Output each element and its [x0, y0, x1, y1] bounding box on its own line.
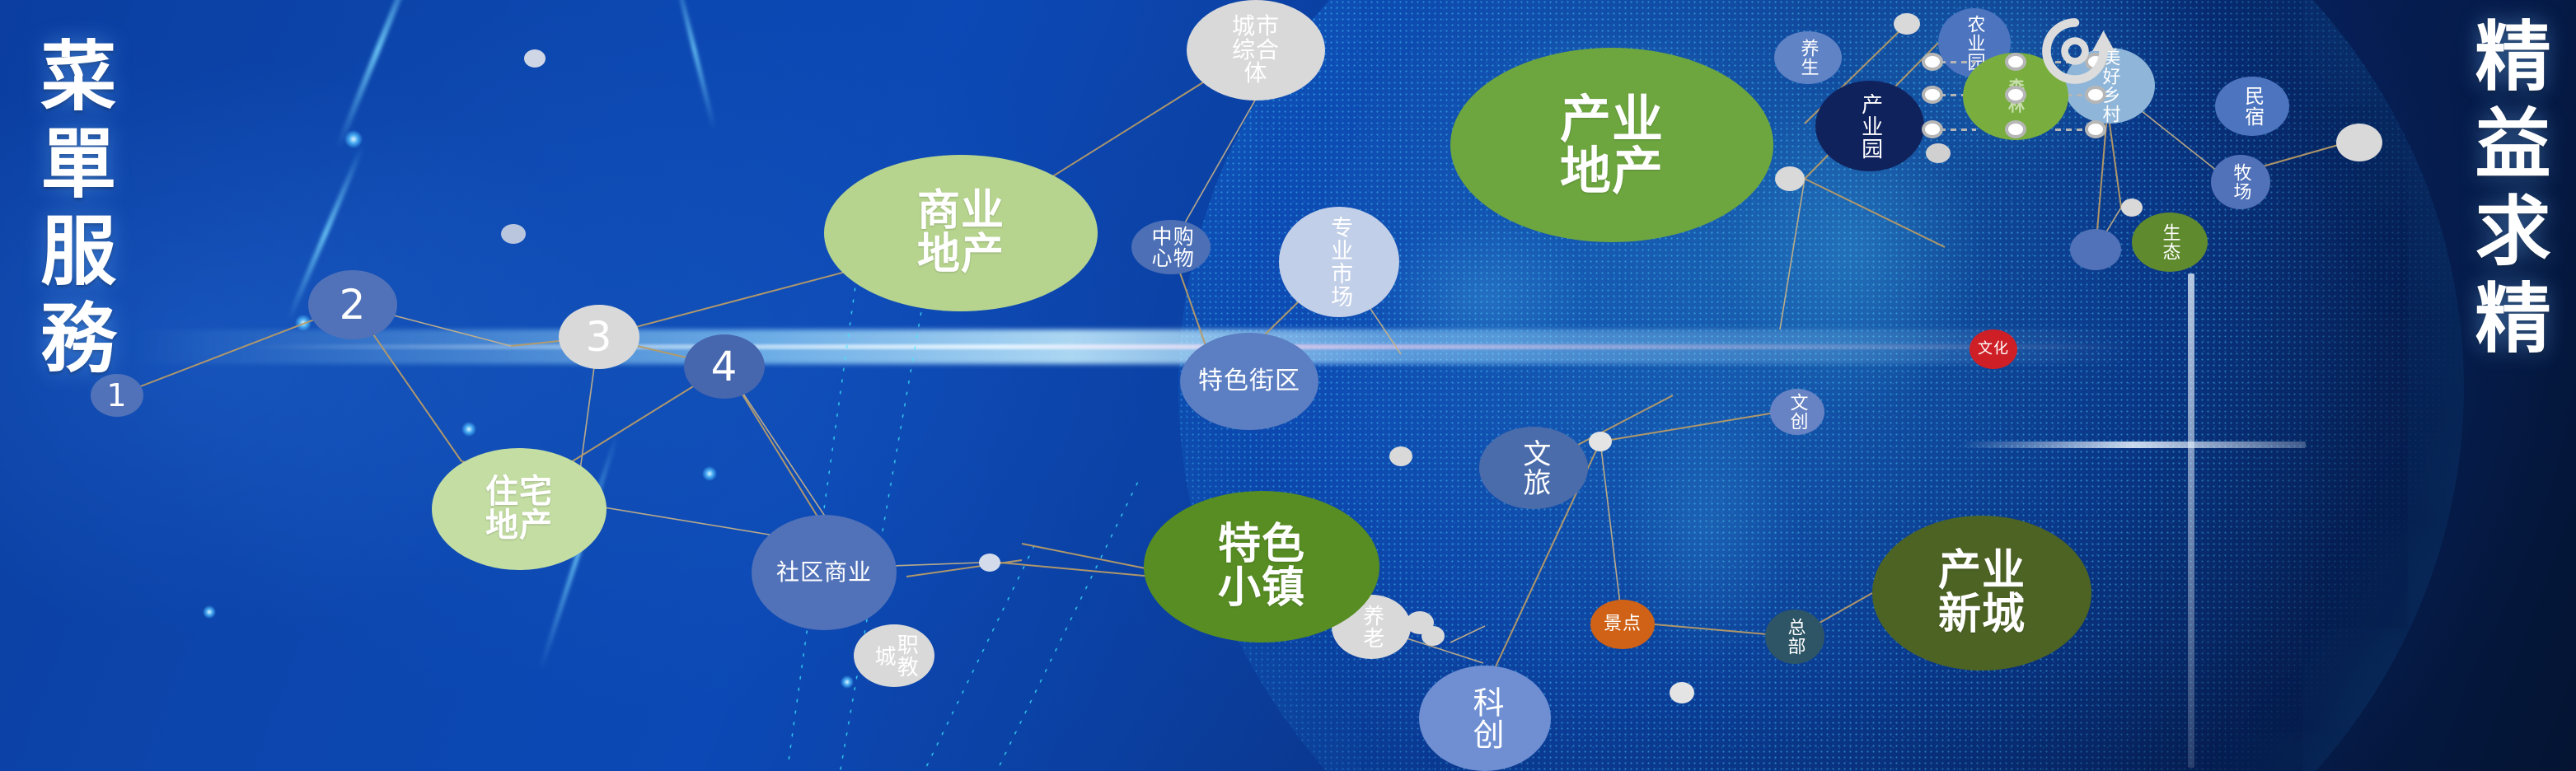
plain-node[interactable]	[1421, 626, 1445, 646]
plain-node[interactable]	[1775, 166, 1805, 191]
forest-node[interactable]	[2005, 86, 2026, 104]
connector-line	[1600, 442, 1623, 624]
bubble-chengshi[interactable]: 城市 综合 体	[1187, 0, 1325, 100]
bubble-kechuang[interactable]: 科创	[1419, 666, 1551, 771]
connector-line	[1805, 179, 1945, 247]
bubble-wenhua[interactable]: 文化	[1969, 329, 2017, 369]
bubble-tesejie[interactable]: 特色街区	[1180, 333, 1318, 430]
bubble-zhuzhai[interactable]: 住宅 地产	[432, 448, 607, 570]
bubble-wenchuang[interactable]: 文创	[1770, 389, 1824, 435]
plain-node[interactable]	[2336, 124, 2382, 161]
bubble-zhijiao[interactable]: 职教城	[854, 624, 934, 687]
plain-node[interactable]	[2121, 199, 2143, 217]
bubble-yangsheng[interactable]: 养生	[1774, 31, 1842, 84]
forest-node[interactable]	[1922, 53, 1943, 71]
bubble-chanye-xc[interactable]: 产业 新城	[1872, 516, 2091, 671]
forest-node[interactable]	[2005, 53, 2026, 71]
forest-node[interactable]	[2005, 120, 2026, 138]
bubble-muchang[interactable]: 牧场	[2211, 155, 2270, 209]
crosshair-horizontal	[1960, 442, 2306, 448]
connector-line	[1780, 179, 1805, 329]
bubble-gouwu[interactable]: 购物中心	[1131, 220, 1211, 274]
connector-line	[906, 560, 1022, 577]
dotted-arc	[991, 477, 1140, 771]
bubble-tese-town[interactable]: 特色 小镇	[1144, 491, 1379, 642]
forest-node[interactable]	[1922, 120, 1943, 138]
horizontal-light-beam	[0, 329, 2143, 364]
bubble-chanyeyuan[interactable]: 产业园	[1815, 81, 1924, 171]
crosshair-vertical	[2188, 273, 2194, 768]
numbered-node-4[interactable]: 4	[684, 334, 765, 399]
bubble-jingdian[interactable]: 景点	[1590, 600, 1655, 649]
glow-dot	[702, 466, 717, 481]
connector-line	[1022, 544, 1145, 568]
numbered-node-3[interactable]: 3	[559, 305, 639, 369]
bubble-shangye[interactable]: 商业 地产	[824, 155, 1098, 311]
plain-node[interactable]	[1894, 13, 1920, 35]
forest-dash	[1940, 61, 1976, 63]
plain-node[interactable]	[1389, 446, 1412, 466]
glow-dot	[295, 315, 311, 331]
glow-dot	[203, 605, 216, 619]
forest-node[interactable]	[2085, 120, 2106, 138]
bubble-zhuanye[interactable]: 专业市场	[1279, 207, 1399, 317]
glow-dot	[344, 130, 363, 148]
forest-widget[interactable]: 森林	[1920, 16, 2110, 165]
plain-node[interactable]	[501, 224, 526, 244]
bubble-minsu[interactable]: 民宿	[2215, 77, 2289, 136]
horizontal-light-beam-core	[247, 344, 2143, 349]
connector-line	[1600, 412, 1780, 442]
calligraphy-right: 精益求精	[2457, 16, 2555, 366]
plain-node[interactable]	[2070, 229, 2121, 270]
plain-node[interactable]	[1670, 682, 1694, 703]
plain-node[interactable]	[524, 49, 546, 68]
bubble-wenlv[interactable]: 文旅	[1479, 427, 1588, 509]
glow-dot	[841, 675, 854, 689]
bubble-shequ[interactable]: 社区商业	[752, 515, 897, 630]
plain-node[interactable]	[1589, 432, 1612, 451]
dotted-arc	[836, 250, 932, 770]
plain-node[interactable]	[979, 554, 1000, 572]
bubble-zongbu[interactable]: 总部	[1765, 610, 1824, 664]
forest-node[interactable]	[1922, 86, 1943, 104]
connector-line	[2110, 124, 2121, 208]
refresh-icon[interactable]	[2035, 12, 2115, 91]
calligraphy-left: 菜單服務	[23, 36, 120, 385]
poster-canvas: 城市 综合 体购物中心专业市场特色街区社区商业职教城养老文旅科创景点文创总部文化…	[0, 0, 2576, 771]
light-streak	[335, 0, 421, 150]
connector-line	[1000, 563, 1154, 577]
numbered-node-2[interactable]: 2	[308, 270, 397, 339]
light-streak	[672, 0, 716, 130]
bubble-chanye-dc[interactable]: 产业 地产	[1450, 48, 1773, 242]
connector-line	[1450, 626, 1485, 642]
glow-dot	[461, 422, 476, 437]
bubble-shengtai[interactable]: 生态	[2132, 213, 2208, 272]
forest-dash	[1940, 128, 1976, 131]
